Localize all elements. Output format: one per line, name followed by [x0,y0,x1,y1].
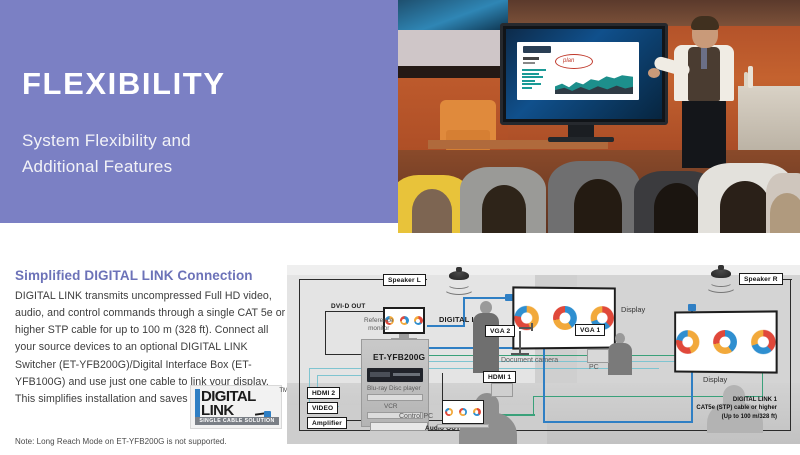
document-camera-stand [519,331,521,355]
slide-legend [557,94,597,98]
label-vga-2: VGA 2 [485,325,515,337]
page-title: FLEXIBILITY [22,68,226,99]
logo-tagline: SINGLE CABLE SOLUTION [195,417,279,425]
wire-control-pc-drop [533,396,534,415]
person-presenter-body [473,313,499,373]
label-pc: PC [589,364,599,373]
label-display-left: Display [621,305,645,314]
photo-blue-banner [398,0,508,30]
label-speaker-left: Speaker L [383,274,426,286]
label-amplifier: Amplifier [307,417,347,429]
photo-bottle [748,66,753,88]
label-reference-monitor: Reference monitor [364,317,394,333]
photo-panel-dark [398,66,508,78]
label-hdmi-2: HDMI 2 [307,387,340,399]
amplifier-device [370,422,428,431]
caption-dl1-line1: DIGITAL LINK 1 [617,396,777,404]
logo-accent-bar [195,389,200,419]
photo-display-screen: plan [500,23,668,125]
photo-slide: plan [517,42,639,100]
label-control-pc: Control PC [399,413,433,422]
label-switcher: ET-YFB200G [373,352,425,362]
wire-speaker-right-drop [790,279,791,431]
pc-device [587,349,609,363]
page-subtitle: System Flexibility and Additional Featur… [22,128,191,181]
display-right-screen [674,310,777,373]
slide-heading [523,57,539,60]
photo-bottle-2 [744,72,748,88]
system-diagram: Speaker L Speaker R DVI-D OUT Reference … [287,265,800,444]
caption-dl1-line2: CAT5e (STP) cable or higher [617,404,777,412]
caption-digital-link-1: DIGITAL LINK 1 CAT5e (STP) cable or high… [617,396,777,421]
caption-dl1-line3: (Up to 100 m/328 ft) [617,413,777,421]
display-left-screen [512,286,615,349]
slide-callout: plan [555,54,593,69]
wire-dl2-out [427,325,465,327]
slide-bullets [522,69,548,91]
photo-panel-light [398,30,508,66]
label-display-right: Display [703,375,727,384]
footnote: Note: Long Reach Mode on ET-YFB200G is n… [15,437,227,446]
hero-banner: FLEXIBILITY System Flexibility and Addit… [0,0,398,223]
wire-dl2-run [463,297,507,299]
wire-dvi-drop [325,311,326,355]
section-heading: Simplified DIGITAL LINK Connection [15,268,253,283]
label-vga-1: VGA 1 [575,324,605,336]
label-document-camera: Document camera [501,357,558,366]
page-subtitle-line2: Additional Features [22,154,191,180]
label-bluray: Blu-ray Disc player [367,385,421,393]
label-video: VIDEO [307,402,338,414]
bluray-device [367,394,423,401]
presentation-photo: plan [398,0,800,233]
slide-page: FLEXIBILITY System Flexibility and Addit… [0,0,800,455]
logo-line-2: LINK [201,404,234,418]
page-subtitle-line1: System Flexibility and [22,128,191,154]
label-vcr: VCR [384,403,398,411]
photo-screen-surface: plan [506,29,662,119]
person-seated-body [608,343,632,375]
label-speaker-right: Speaker R [739,273,783,285]
connector-dl1 [688,304,696,311]
label-dvi-out: DVI-D OUT [331,303,365,310]
slide-subheading [523,62,535,64]
label-hdmi-1: HDMI 1 [483,371,516,383]
control-pc-base [437,424,489,428]
digital-link-logo: DIGITAL LINK TM SINGLE CABLE SOLUTION [190,385,282,429]
slide-logo [523,46,551,53]
hdmi-source-device [491,383,513,397]
slide-area-chart [555,68,633,94]
wire-speaker-left-drop [299,279,300,431]
control-pc-screen [442,400,484,424]
wire-dl1-floor [543,421,693,423]
photo-audience [398,128,800,233]
